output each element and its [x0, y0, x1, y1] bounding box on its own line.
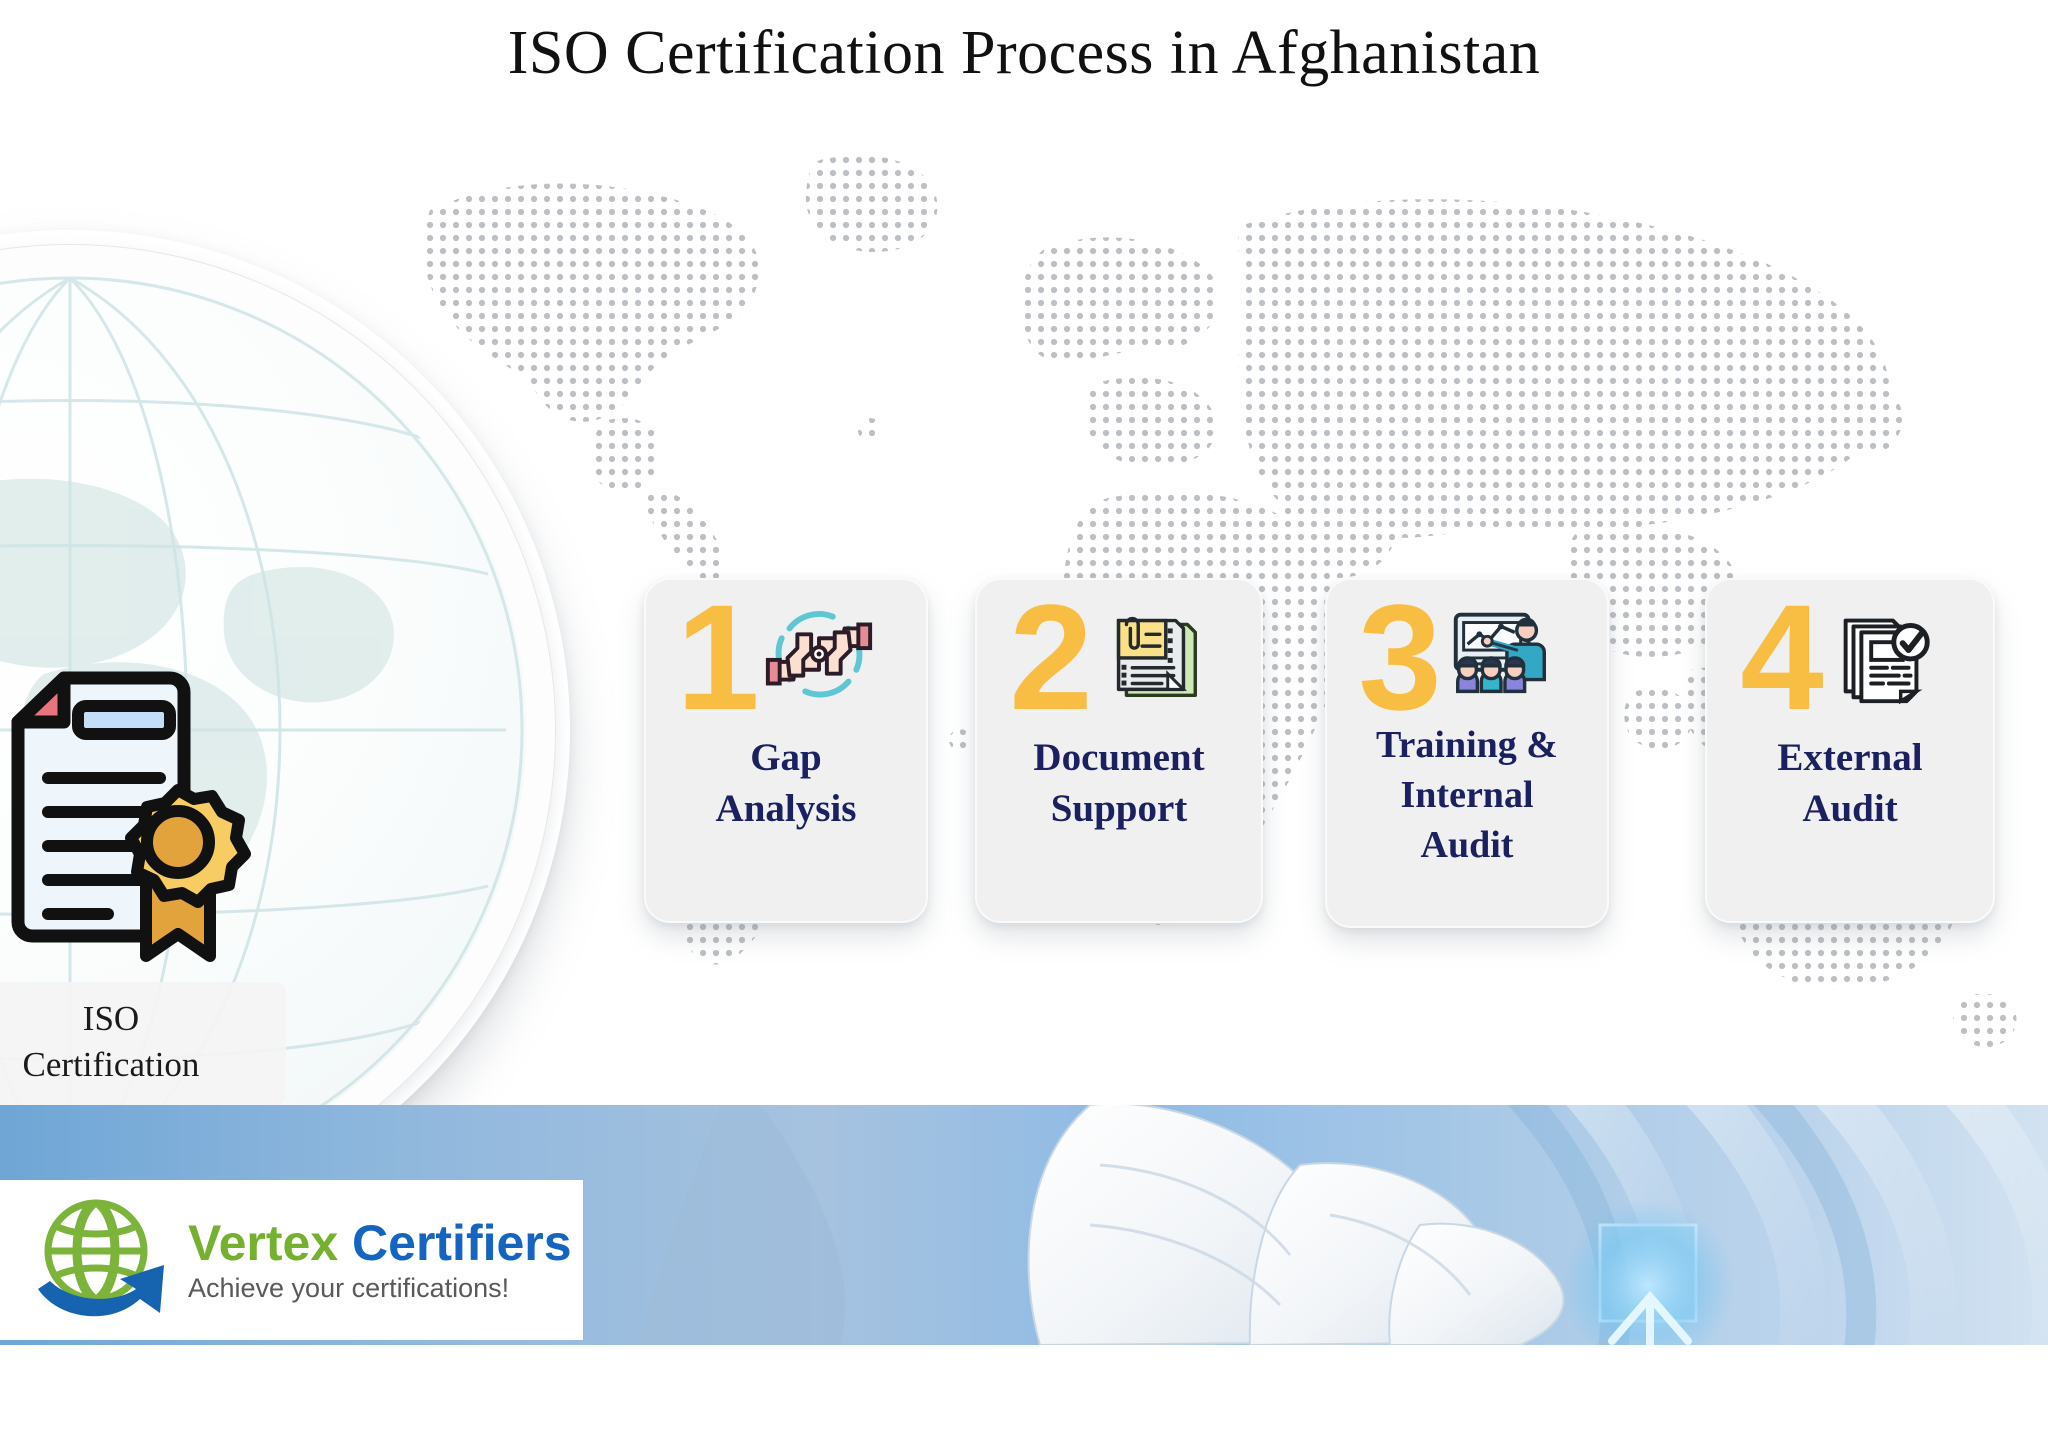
step-label-line2: Internal [1376, 770, 1558, 820]
brand-tagline: Achieve your certifications! [188, 1273, 572, 1304]
step-card-training-internal-audit[interactable]: 3 [1325, 578, 1609, 928]
brand-logo[interactable]: Vertex Certifiers Achieve your certifica… [0, 1180, 583, 1340]
step-number: 2 [1009, 588, 1088, 726]
content-stage: ISO Certification 1 [0, 130, 2048, 1105]
bottom-white-strip [0, 1345, 2048, 1448]
training-presentation-icon [1442, 595, 1560, 713]
step-card-external-audit[interactable]: 4 [1705, 578, 1995, 923]
brand-name-first: Vertex [188, 1215, 338, 1271]
step-label-line2: Support [1033, 783, 1204, 834]
step-label-line1: Gap [716, 732, 857, 783]
documents-check-icon [1824, 595, 1942, 713]
step-card-label: Training & Internal Audit [1368, 720, 1566, 870]
step-card-label: Document Support [1025, 732, 1212, 835]
step-number: 4 [1740, 588, 1819, 726]
globe-arrow-logo-icon [28, 1193, 178, 1328]
brand-text: Vertex Certifiers Achieve your certifica… [188, 1217, 572, 1304]
step-label-line3: Audit [1376, 820, 1558, 870]
step-card-gap-analysis[interactable]: 1 [644, 578, 928, 923]
step-card-header: 3 [1327, 588, 1607, 726]
step-card-header: 2 [977, 588, 1261, 726]
step-number: 3 [1358, 588, 1437, 726]
step-card-label: Gap Analysis [708, 732, 865, 835]
step-card-label: External Audit [1769, 732, 1930, 835]
step-card-header: 4 [1707, 588, 1993, 726]
step-label-line2: Analysis [716, 783, 857, 834]
step-card-document-support[interactable]: 2 [975, 578, 1263, 923]
page-title: ISO Certification Process in Afghanistan [0, 18, 2048, 89]
brand-name: Vertex Certifiers [188, 1217, 572, 1269]
step-label-line1: Document [1033, 732, 1204, 783]
brand-name-second: Certifiers [352, 1215, 572, 1271]
process-steps: 1 [0, 130, 2048, 1105]
step-label-line1: External [1777, 732, 1922, 783]
step-label-line1: Training & [1376, 720, 1558, 770]
documents-paperclip-icon [1093, 595, 1211, 713]
step-label-line2: Audit [1777, 783, 1922, 834]
step-card-header: 1 [646, 588, 926, 726]
step-number: 1 [676, 588, 755, 726]
teamwork-hands-icon [760, 595, 878, 713]
